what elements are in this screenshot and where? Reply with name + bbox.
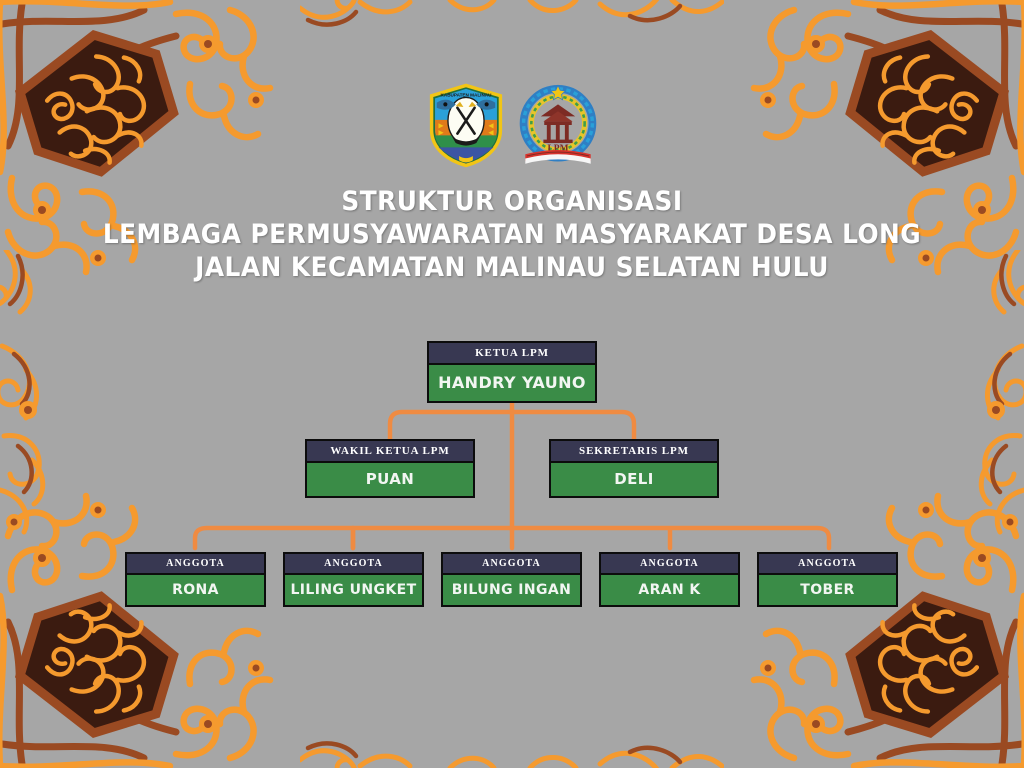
node-role-label: ANGGOTA xyxy=(759,554,896,573)
node-ketua-lpm[interactable]: KETUA LPM HANDRY YAUNO xyxy=(427,341,597,403)
kabupaten-malinau-emblem: KABUPATEN MALINAU xyxy=(423,82,509,168)
node-role-label: ANGGOTA xyxy=(285,554,422,573)
node-anggota-1[interactable]: ANGGOTA RONA xyxy=(125,552,266,607)
ornament-edge-top xyxy=(300,0,724,64)
title-line-2: LEMBAGA PERMUSYAWARATAN MASYARAKAT DESA … xyxy=(41,219,983,252)
org-chart: KETUA LPM HANDRY YAUNO WAKIL KETUA LPM P… xyxy=(0,320,1024,620)
node-name-label: ARAN K xyxy=(601,573,738,605)
node-role-label: ANGGOTA xyxy=(601,554,738,573)
title-line-3: JALAN KECAMATAN MALINAU SELATAN HULU xyxy=(41,252,983,285)
node-role-label: KETUA LPM xyxy=(429,343,595,363)
title-line-1: STRUKTUR ORGANISASI xyxy=(41,186,983,219)
node-name-label: TOBER xyxy=(759,573,896,605)
node-name-label: RONA xyxy=(127,573,264,605)
node-anggota-3[interactable]: ANGGOTA BILUNG INGAN xyxy=(441,552,582,607)
ornament-edge-bottom xyxy=(300,704,724,768)
logo-row: KABUPATEN MALINAU LPM xyxy=(0,82,1024,168)
node-anggota-2[interactable]: ANGGOTA LILING UNGKET xyxy=(283,552,424,607)
node-role-label: SEKRETARIS LPM xyxy=(551,441,717,461)
node-role-label: ANGGOTA xyxy=(127,554,264,573)
svg-text:KABUPATEN MALINAU: KABUPATEN MALINAU xyxy=(441,93,493,98)
node-anggota-4[interactable]: ANGGOTA ARAN K xyxy=(599,552,740,607)
node-anggota-5[interactable]: ANGGOTA TOBER xyxy=(757,552,898,607)
node-role-label: WAKIL KETUA LPM xyxy=(307,441,473,461)
lpm-emblem: LPM xyxy=(515,82,601,168)
node-sekretaris-lpm[interactable]: SEKRETARIS LPM DELI xyxy=(549,439,719,498)
node-role-label: ANGGOTA xyxy=(443,554,580,573)
node-name-label: LILING UNGKET xyxy=(285,573,422,605)
node-wakil-ketua-lpm[interactable]: WAKIL KETUA LPM PUAN xyxy=(305,439,475,498)
node-name-label: BILUNG INGAN xyxy=(443,573,580,605)
poster-title: STRUKTUR ORGANISASI LEMBAGA PERMUSYAWARA… xyxy=(0,186,1024,285)
org-chart-poster: KABUPATEN MALINAU LPM xyxy=(0,0,1024,768)
node-name-label: PUAN xyxy=(307,461,473,496)
node-name-label: HANDRY YAUNO xyxy=(429,363,595,401)
node-name-label: DELI xyxy=(551,461,717,496)
